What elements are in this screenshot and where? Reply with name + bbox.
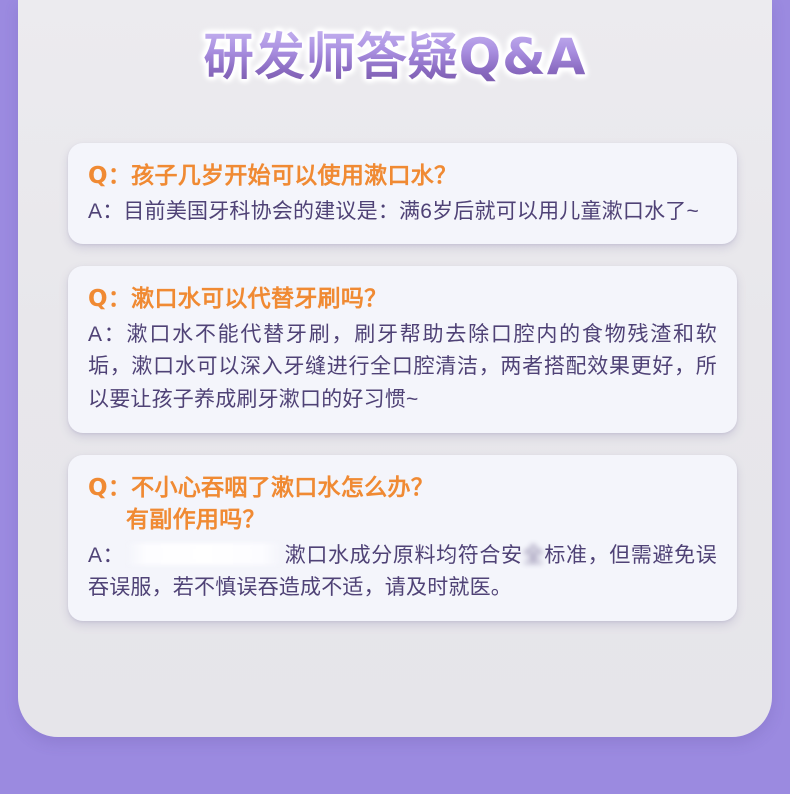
faq-card[interactable]: Q：孩子几岁开始可以使用漱口水？ A：目前美国牙科协会的建议是：满6岁后就可以用…: [68, 143, 737, 244]
faq-card[interactable]: Q：漱口水可以代替牙刷吗？ A：漱口水不能代替牙刷，刷牙帮助去除口腔内的食物残渣…: [68, 266, 737, 432]
page-title-container: 研发师答疑Q&A: [18, 30, 772, 85]
content-panel: 研发师答疑Q&A Q：孩子几岁开始可以使用漱口水？ A：目前美国牙科协会的建议是…: [18, 0, 772, 737]
faq-question-line-2: 有副作用吗？: [88, 504, 717, 537]
faq-answer: A：目前美国牙科协会的建议是：满6岁后就可以用儿童漱口水了~: [88, 196, 717, 229]
answer-text-before: 漱口水成分原料均符合安: [284, 544, 522, 567]
faq-answer: A：漱口水成分原料均符合安全标准，但需避免误吞误服，若不慎误吞造成不适，请及时就…: [88, 540, 717, 605]
answer-prefix: A：: [88, 200, 123, 223]
answer-text: 漱口水不能代替牙刷，刷牙帮助去除口腔内的食物残渣和软垢，漱口水可以深入牙缝进行全…: [88, 323, 717, 411]
blurred-glyph: 全: [523, 540, 544, 573]
faq-list: Q：孩子几岁开始可以使用漱口水？ A：目前美国牙科协会的建议是：满6岁后就可以用…: [68, 143, 737, 621]
faq-question-line: Q：漱口水可以代替牙刷吗？: [88, 283, 717, 316]
faq-question-line: Q：不小心吞咽了漱口水怎么办？: [88, 472, 717, 505]
page-title: 研发师答疑Q&A: [204, 30, 587, 85]
page-root: 研发师答疑Q&A Q：孩子几岁开始可以使用漱口水？ A：目前美国牙科协会的建议是…: [0, 0, 790, 794]
faq-answer: A：漱口水不能代替牙刷，刷牙帮助去除口腔内的食物残渣和软垢，漱口水可以深入牙缝进…: [88, 319, 717, 417]
answer-prefix: A：: [88, 323, 127, 346]
redacted-brand-name: [128, 543, 280, 565]
faq-card[interactable]: Q：不小心吞咽了漱口水怎么办？ 有副作用吗？ A：漱口水成分原料均符合安全标准，…: [68, 455, 737, 621]
answer-text: 目前美国牙科协会的建议是：满6岁后就可以用儿童漱口水了~: [123, 200, 699, 223]
answer-prefix: A：: [88, 544, 124, 567]
faq-question-line: Q：孩子几岁开始可以使用漱口水？: [88, 160, 717, 193]
